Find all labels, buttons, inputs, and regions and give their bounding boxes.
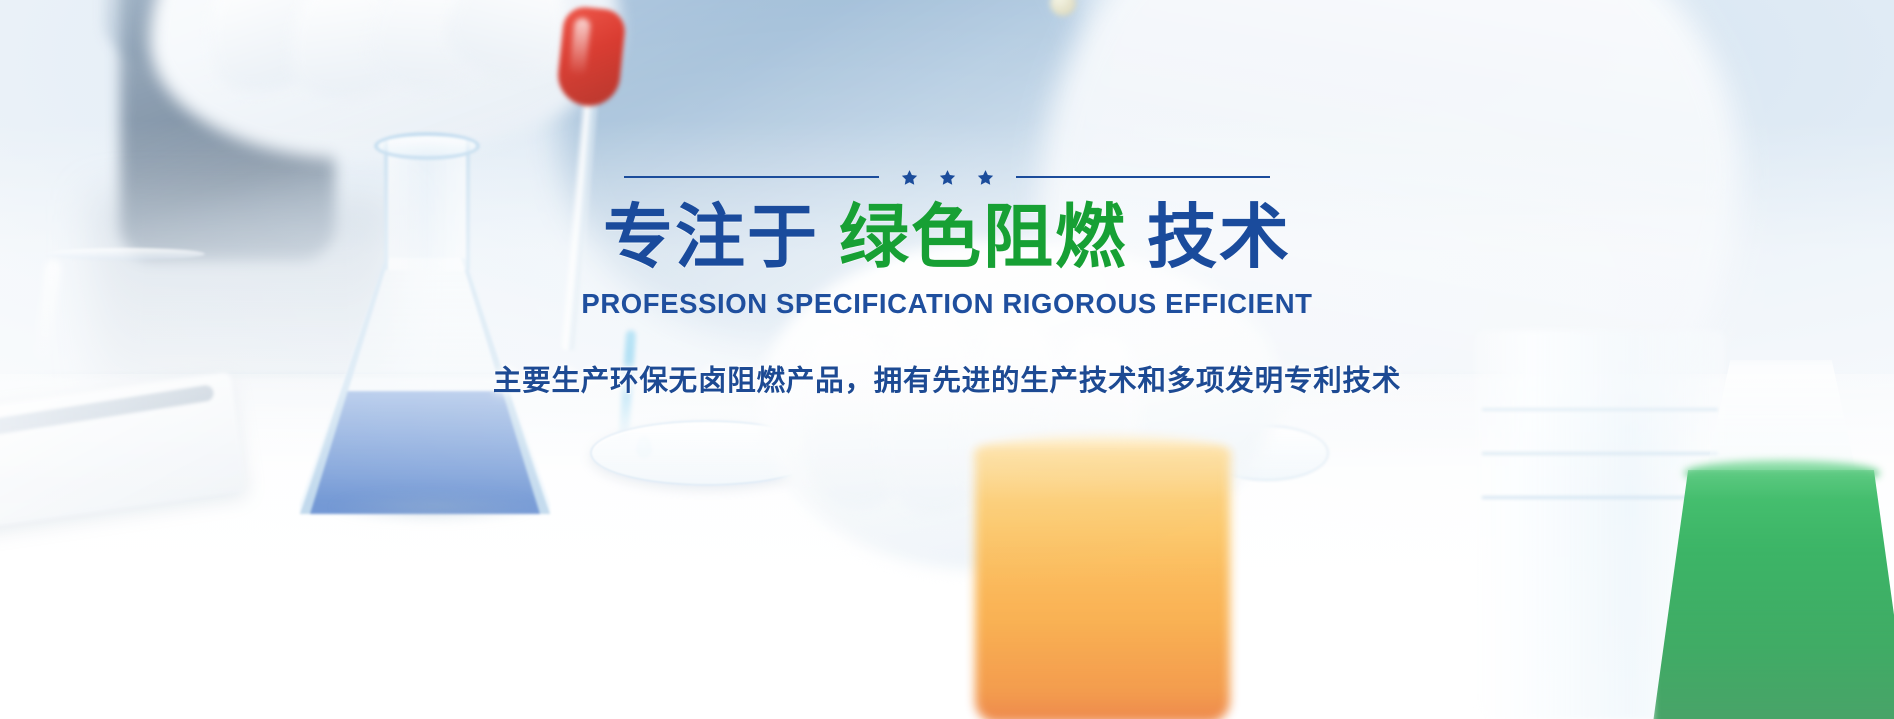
- divider-line-right: [1016, 176, 1271, 178]
- star-icon: [939, 169, 956, 186]
- title-part-accent: 绿色阻燃: [839, 198, 1127, 276]
- banner-content: 专注于绿色阻燃技术 PROFESSION SPECIFICATION RIGOR…: [0, 0, 1894, 719]
- divider-stars: [879, 169, 1016, 186]
- star-icon: [977, 169, 994, 186]
- banner-title: 专注于绿色阻燃技术: [603, 201, 1291, 274]
- star-icon: [901, 169, 918, 186]
- decorative-divider: [624, 166, 1270, 188]
- hero-banner: 专注于绿色阻燃技术 PROFESSION SPECIFICATION RIGOR…: [0, 0, 1894, 719]
- divider-line-left: [624, 176, 879, 178]
- banner-subtitle: PROFESSION SPECIFICATION RIGOROUS EFFICI…: [581, 288, 1312, 320]
- banner-description: 主要生产环保无卤阻燃产品，拥有先进的生产技术和多项发明专利技术: [493, 358, 1401, 399]
- title-part-primary-1: 专注于: [603, 198, 819, 276]
- title-part-primary-2: 技术: [1147, 198, 1291, 276]
